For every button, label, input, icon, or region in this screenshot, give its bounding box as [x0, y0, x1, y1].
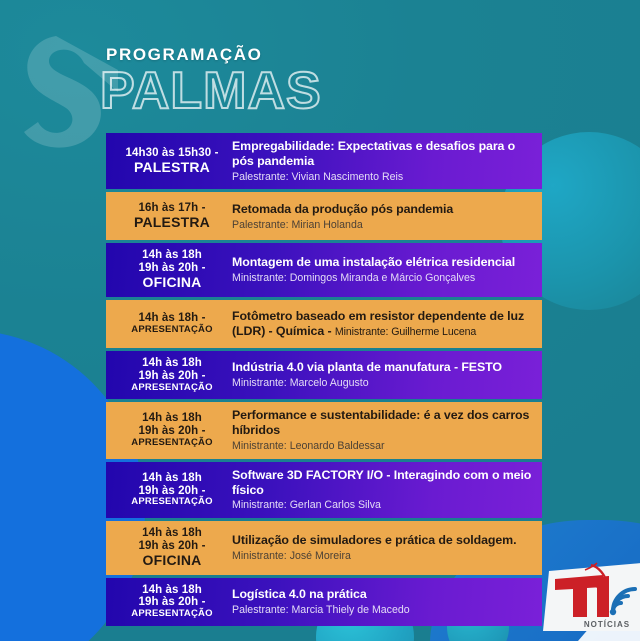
schedule-row-time: 14h às 18h19h às 20h -APRESENTAÇÃO [118, 412, 232, 448]
schedule-row: 14h às 18h19h às 20h -OFICINAUtilização … [106, 521, 542, 574]
schedule-row-presenter: Palestrante: Vivian Nascimento Reis [232, 171, 532, 184]
schedule-row-type: PALESTRA [118, 215, 226, 231]
page-title: PALMAS [100, 65, 322, 117]
schedule-row: 14h às 18h19h às 20h -APRESENTAÇÃOSoftwa… [106, 462, 542, 518]
schedule-row-title-main: Montagem de uma instalação elétrica resi… [232, 255, 515, 269]
schedule-row-title-main: Performance e sustentabilidade: é a vez … [232, 408, 529, 437]
schedule-row-body: Montagem de uma instalação elétrica resi… [232, 255, 532, 285]
t1-noticias-logo: NOTÍCIAS [541, 561, 640, 631]
schedule-row-title-main: Software 3D FACTORY I/O - Interagindo co… [232, 468, 531, 497]
schedule-row-type: APRESENTAÇÃO [118, 383, 226, 394]
schedule-row-title-main: Utilização de simuladores e prática de s… [232, 533, 516, 547]
schedule-row-time-line: 14h às 18h [118, 527, 226, 540]
schedule-row-title-main: Logística 4.0 na prática [232, 587, 367, 601]
schedule-row-title: Retomada da produção pós pandemia [232, 202, 532, 217]
schedule-row-time: 14h30 às 15h30 -PALESTRA [118, 147, 232, 176]
schedule-row-body: Indústria 4.0 via planta de manufatura -… [232, 360, 532, 390]
schedule-row-time: 16h às 17h -PALESTRA [118, 202, 232, 231]
schedule-row-title-tail: Ministrante: Guilherme Lucena [335, 326, 476, 338]
schedule-row-title: Fotômetro baseado em resistor dependente… [232, 309, 532, 339]
schedule-row-title: Empregabilidade: Expectativas e desafios… [232, 139, 532, 169]
schedule-row-time: 14h às 18h19h às 20h -OFICINA [118, 527, 232, 568]
schedule-row: 14h às 18h19h às 20h -OFICINAMontagem de… [106, 243, 542, 296]
schedule-row-presenter: Ministrante: José Moreira [232, 550, 532, 563]
schedule-row: 14h30 às 15h30 -PALESTRAEmpregabilidade:… [106, 133, 542, 189]
schedule-row-title: Software 3D FACTORY I/O - Interagindo co… [232, 468, 532, 498]
schedule-row-time-line: 14h às 18h [118, 249, 226, 262]
schedule-row-presenter: Ministrante: Gerlan Carlos Silva [232, 499, 532, 512]
schedule-row-body: Software 3D FACTORY I/O - Interagindo co… [232, 468, 532, 512]
schedule-row-time: 14h às 18h19h às 20h -APRESENTAÇÃO [118, 357, 232, 393]
schedule-row-title-main: Retomada da produção pós pandemia [232, 202, 453, 216]
schedule-row: 14h às 18h19h às 20h -APRESENTAÇÃOLogíst… [106, 578, 542, 626]
svg-text:NOTÍCIAS: NOTÍCIAS [584, 620, 630, 629]
schedule-row-time-line: 14h às 18h [118, 357, 226, 370]
schedule-row-type: APRESENTAÇÃO [118, 609, 226, 620]
schedule-row-body: Logística 4.0 na práticaPalestrante: Mar… [232, 587, 532, 617]
schedule-row-body: Utilização de simuladores e prática de s… [232, 533, 532, 563]
schedule-row-title: Utilização de simuladores e prática de s… [232, 533, 532, 548]
poster-canvas: PROGRAMAÇÃO PALMAS 14h30 às 15h30 -PALES… [0, 0, 640, 641]
schedule-row-presenter: Palestrante: Marcia Thiely de Macedo [232, 604, 532, 617]
schedule-row-body: Retomada da produção pós pandemiaPalestr… [232, 202, 532, 232]
schedule-row-presenter: Ministrante: Leonardo Baldessar [232, 440, 532, 453]
schedule-row-presenter: Ministrante: Domingos Miranda e Márcio G… [232, 272, 532, 285]
schedule-row-body: Empregabilidade: Expectativas e desafios… [232, 139, 532, 183]
schedule-row-time: 14h às 18h -APRESENTAÇÃO [118, 312, 232, 336]
schedule-list: 14h30 às 15h30 -PALESTRAEmpregabilidade:… [106, 133, 542, 629]
schedule-row-type: OFICINA [118, 553, 226, 569]
schedule-row-title: Montagem de uma instalação elétrica resi… [232, 255, 532, 270]
schedule-row-time-line: 19h às 20h - [118, 540, 226, 553]
schedule-row-type: PALESTRA [118, 160, 226, 176]
schedule-row-type: APRESENTAÇÃO [118, 497, 226, 508]
schedule-row-type: OFICINA [118, 275, 226, 291]
schedule-row-time: 14h às 18h19h às 20h -OFICINA [118, 249, 232, 290]
schedule-row-title: Logística 4.0 na prática [232, 587, 532, 602]
schedule-row-time-line: 14h30 às 15h30 - [118, 147, 226, 160]
schedule-row: 14h às 18h19h às 20h -APRESENTAÇÃOPerfor… [106, 402, 542, 458]
schedule-row-title-main: Indústria 4.0 via planta de manufatura -… [232, 360, 502, 374]
schedule-row-type: APRESENTAÇÃO [118, 325, 226, 336]
schedule-row: 16h às 17h -PALESTRARetomada da produção… [106, 192, 542, 240]
schedule-row-time: 14h às 18h19h às 20h -APRESENTAÇÃO [118, 472, 232, 508]
poster-header: PROGRAMAÇÃO PALMAS [100, 46, 322, 117]
schedule-row-time-line: 14h às 18h [118, 472, 226, 485]
schedule-row-presenter: Ministrante: Marcelo Augusto [232, 377, 532, 390]
schedule-row-title: Indústria 4.0 via planta de manufatura -… [232, 360, 532, 375]
schedule-row-body: Fotômetro baseado em resistor dependente… [232, 309, 532, 339]
schedule-row-time-line: 14h às 18h [118, 412, 226, 425]
schedule-row-body: Performance e sustentabilidade: é a vez … [232, 408, 532, 452]
schedule-row: 14h às 18h19h às 20h -APRESENTAÇÃOIndúst… [106, 351, 542, 399]
schedule-row-time-line: 14h às 18h [118, 584, 226, 597]
schedule-row-title-main: Empregabilidade: Expectativas e desafios… [232, 139, 515, 168]
header-kicker: PROGRAMAÇÃO [106, 46, 322, 63]
schedule-row-presenter: Palestrante: Mirian Holanda [232, 219, 532, 232]
schedule-row-time: 14h às 18h19h às 20h -APRESENTAÇÃO [118, 584, 232, 620]
schedule-row-time-line: 19h às 20h - [118, 370, 226, 383]
schedule-row: 14h às 18h -APRESENTAÇÃOFotômetro basead… [106, 300, 542, 348]
schedule-row-title: Performance e sustentabilidade: é a vez … [232, 408, 532, 438]
schedule-row-type: APRESENTAÇÃO [118, 438, 226, 449]
